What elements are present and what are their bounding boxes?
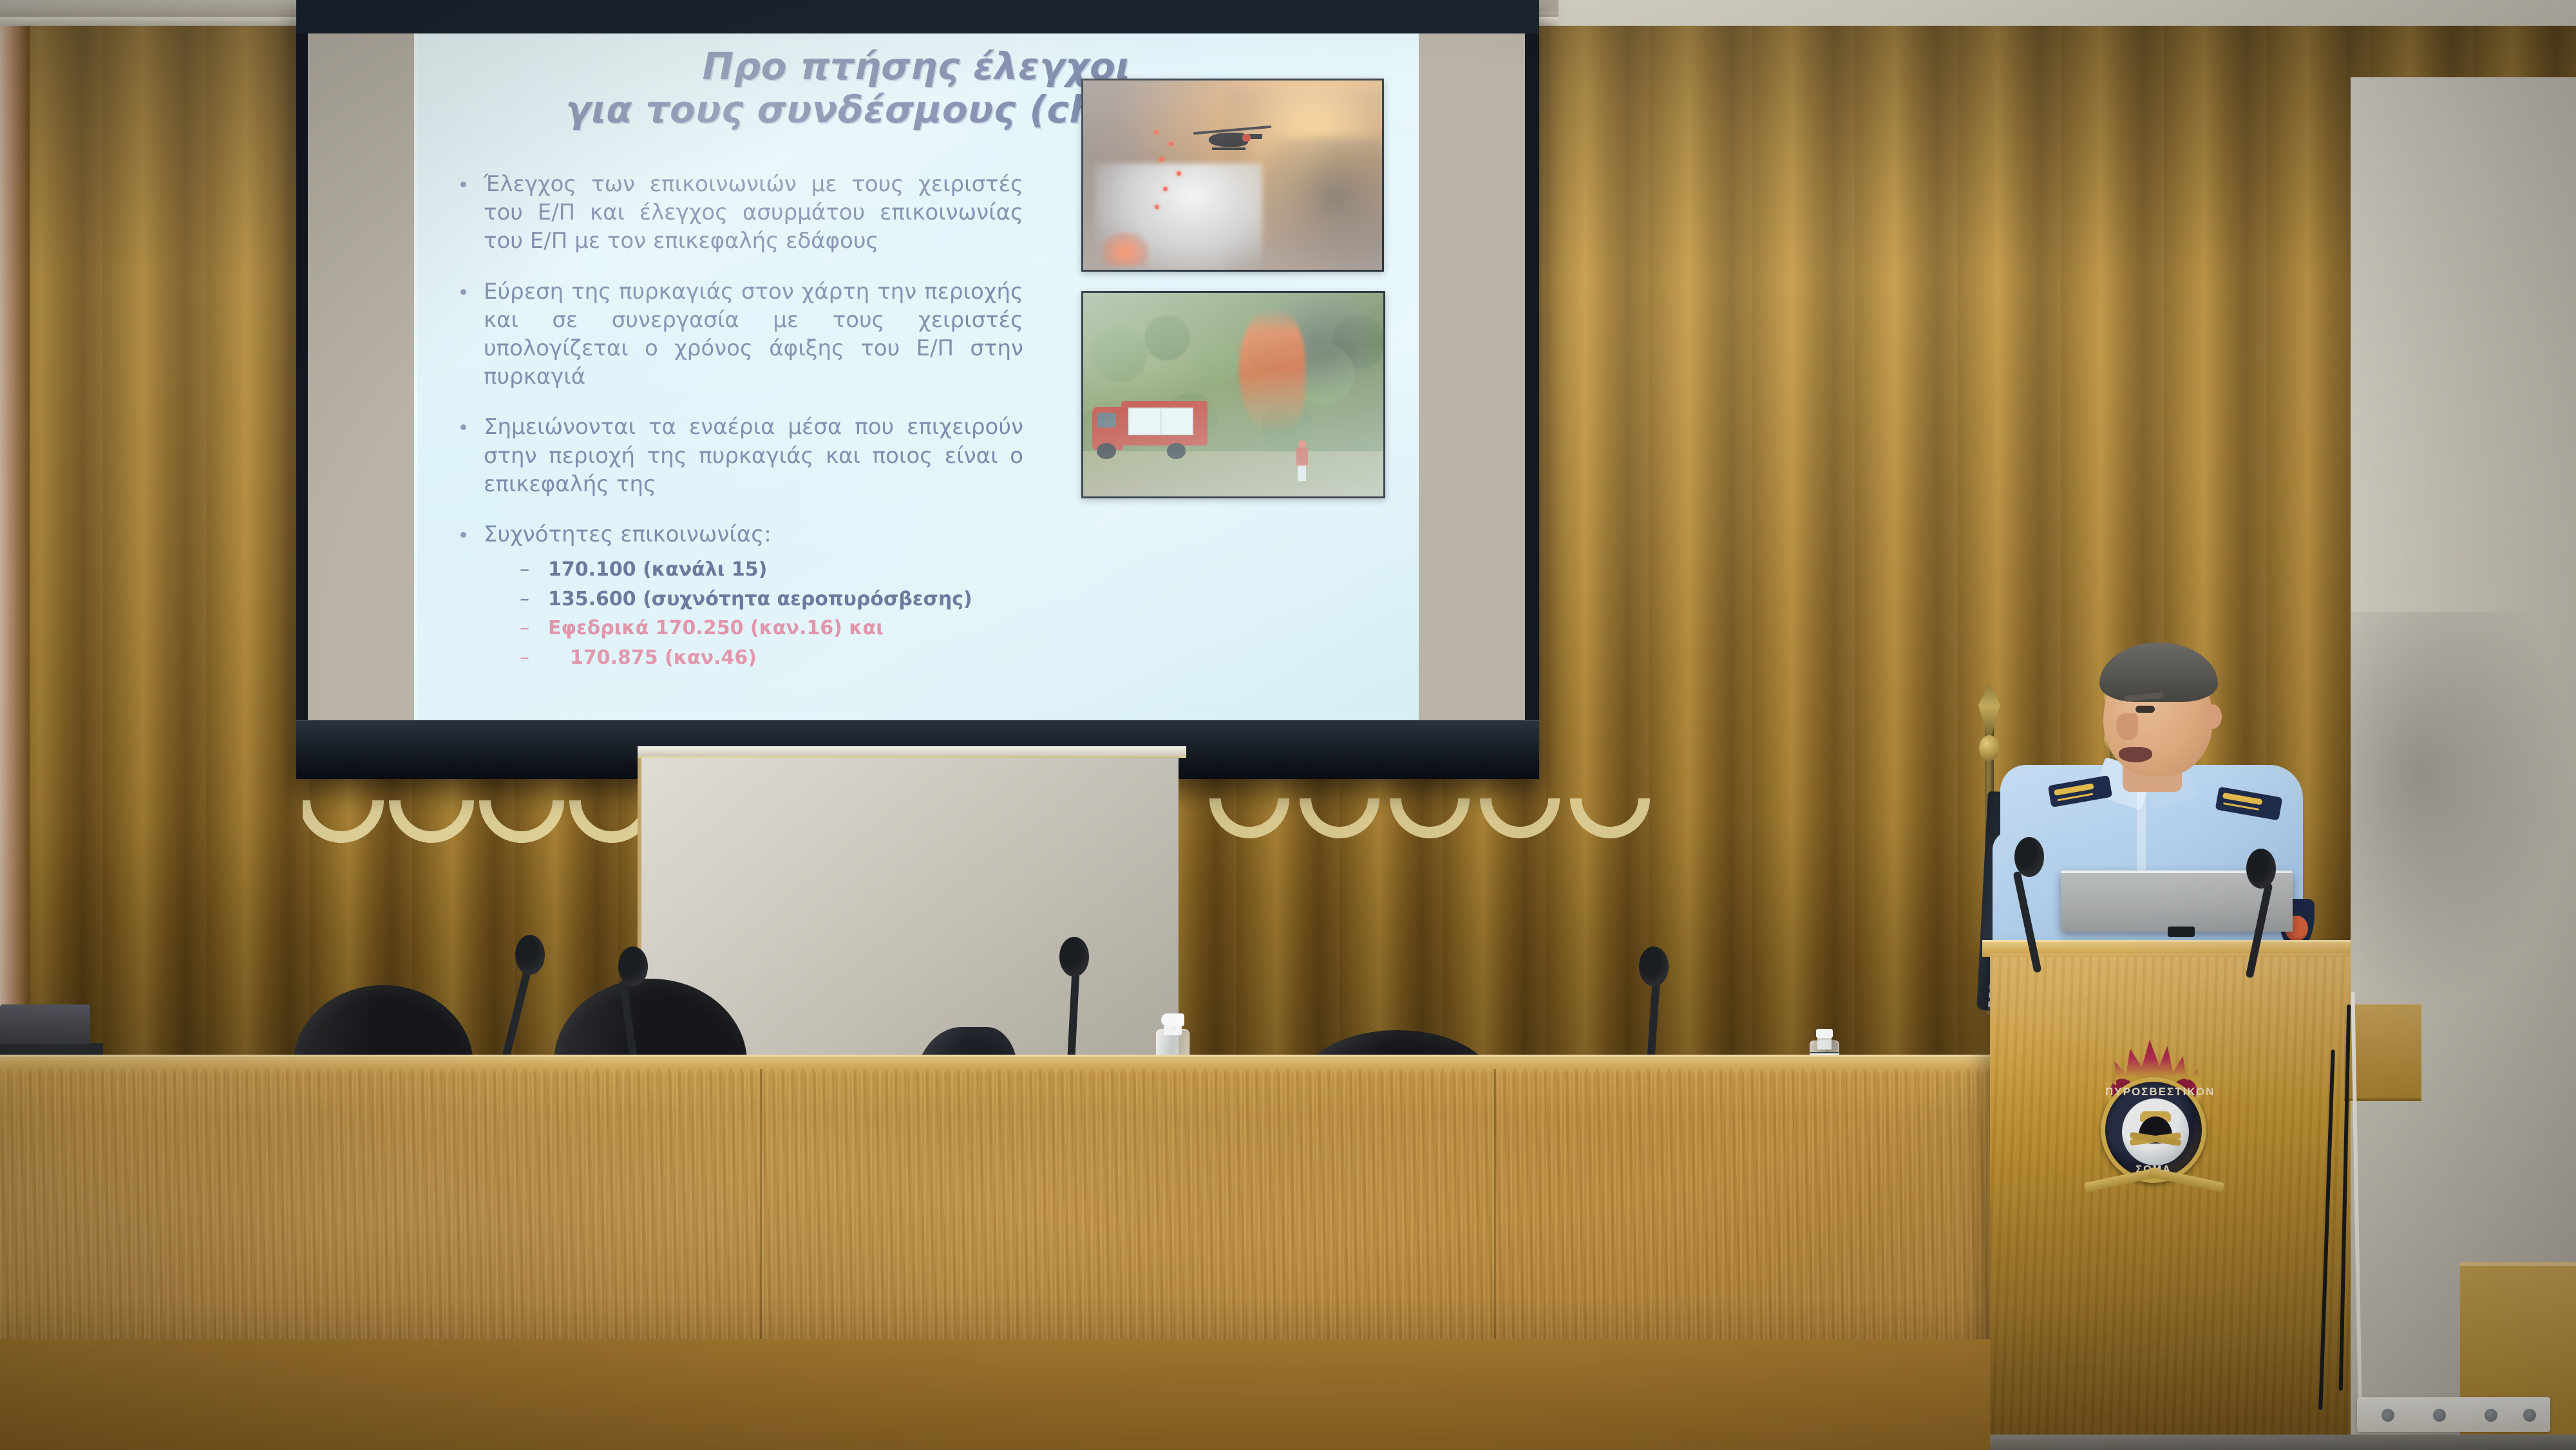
wall-shadow [2351, 612, 2576, 1011]
floor-strip [1990, 1435, 2576, 1450]
slide-bullet-1: Έλεγχος των επικοινωνιών με τους χειριστ… [444, 170, 1023, 256]
emblem-ring: ΠΥΡΟΣΒΕΣΤΙΚΟΝ ΣΩΜΑ [2101, 1077, 2206, 1183]
screen-top-bar [296, 0, 1539, 33]
left-wall-ledge [0, 1004, 90, 1044]
fire-service-emblem: ΠΥΡΟΣΒΕΣΤΙΚΟΝ ΣΩΜΑ [2074, 1040, 2235, 1214]
emblem-inner-disc [2122, 1098, 2189, 1165]
presentation-slide: Προ πτήσης έλεγχοι για τους συνδέσμους (… [414, 33, 1419, 721]
projection-screen: Προ πτήσης έλεγχοι για τους συνδέσμους (… [296, 0, 1539, 779]
frequency-list: 170.100 (κανάλι 15) 135.600 (συχνότητα α… [508, 555, 1023, 672]
frequency-item-2: 135.600 (συχνότητα αεροπυρόσβεσης) [508, 585, 1023, 614]
slide-bullet-3: Σημειώνονται τα εναέρια μέσα που επιχειρ… [444, 413, 1023, 498]
frequency-item-3: Εφεδρικά 170.250 (καν.16) και [508, 614, 1023, 643]
desk-lower-front [0, 1339, 1990, 1450]
slide-photo-helicopter [1081, 79, 1384, 272]
frequency-item-4: 170.875 (καν.46) [508, 643, 1023, 673]
slide-bullet-4-label: Συχνότητες επικοινωνίας: [484, 522, 772, 547]
screen-surface: Προ πτήσης έλεγχοι για τους συνδέσμους (… [308, 33, 1525, 721]
frequency-item-1: 170.100 (κανάλι 15) [508, 555, 1023, 585]
curtain-valance-right [1204, 798, 1694, 850]
slide-photo-fire-truck [1081, 291, 1385, 498]
slide-bullet-list: Έλεγχος των επικοινωνιών με τους χειριστ… [444, 170, 1023, 694]
emblem-text-top: ΠΥΡΟΣΒΕΣΤΙΚΟΝ [2105, 1086, 2202, 1098]
conference-hall-scene: Προ πτήσης έλεγχοι για τους συνδέσμους (… [0, 0, 2576, 1450]
bugle-icons [2084, 1169, 2224, 1193]
slide-bullet-4: Συχνότητες επικοινωνίας: 170.100 (κανάλι… [444, 520, 1023, 673]
slide-left-edge [414, 33, 418, 721]
curtain-light-gap [0, 26, 30, 1120]
power-socket-strip[interactable] [2357, 1397, 2550, 1432]
slide-bullet-2: Εύρεση της πυρκαγιάς στον χάρτη την περι… [444, 278, 1023, 391]
